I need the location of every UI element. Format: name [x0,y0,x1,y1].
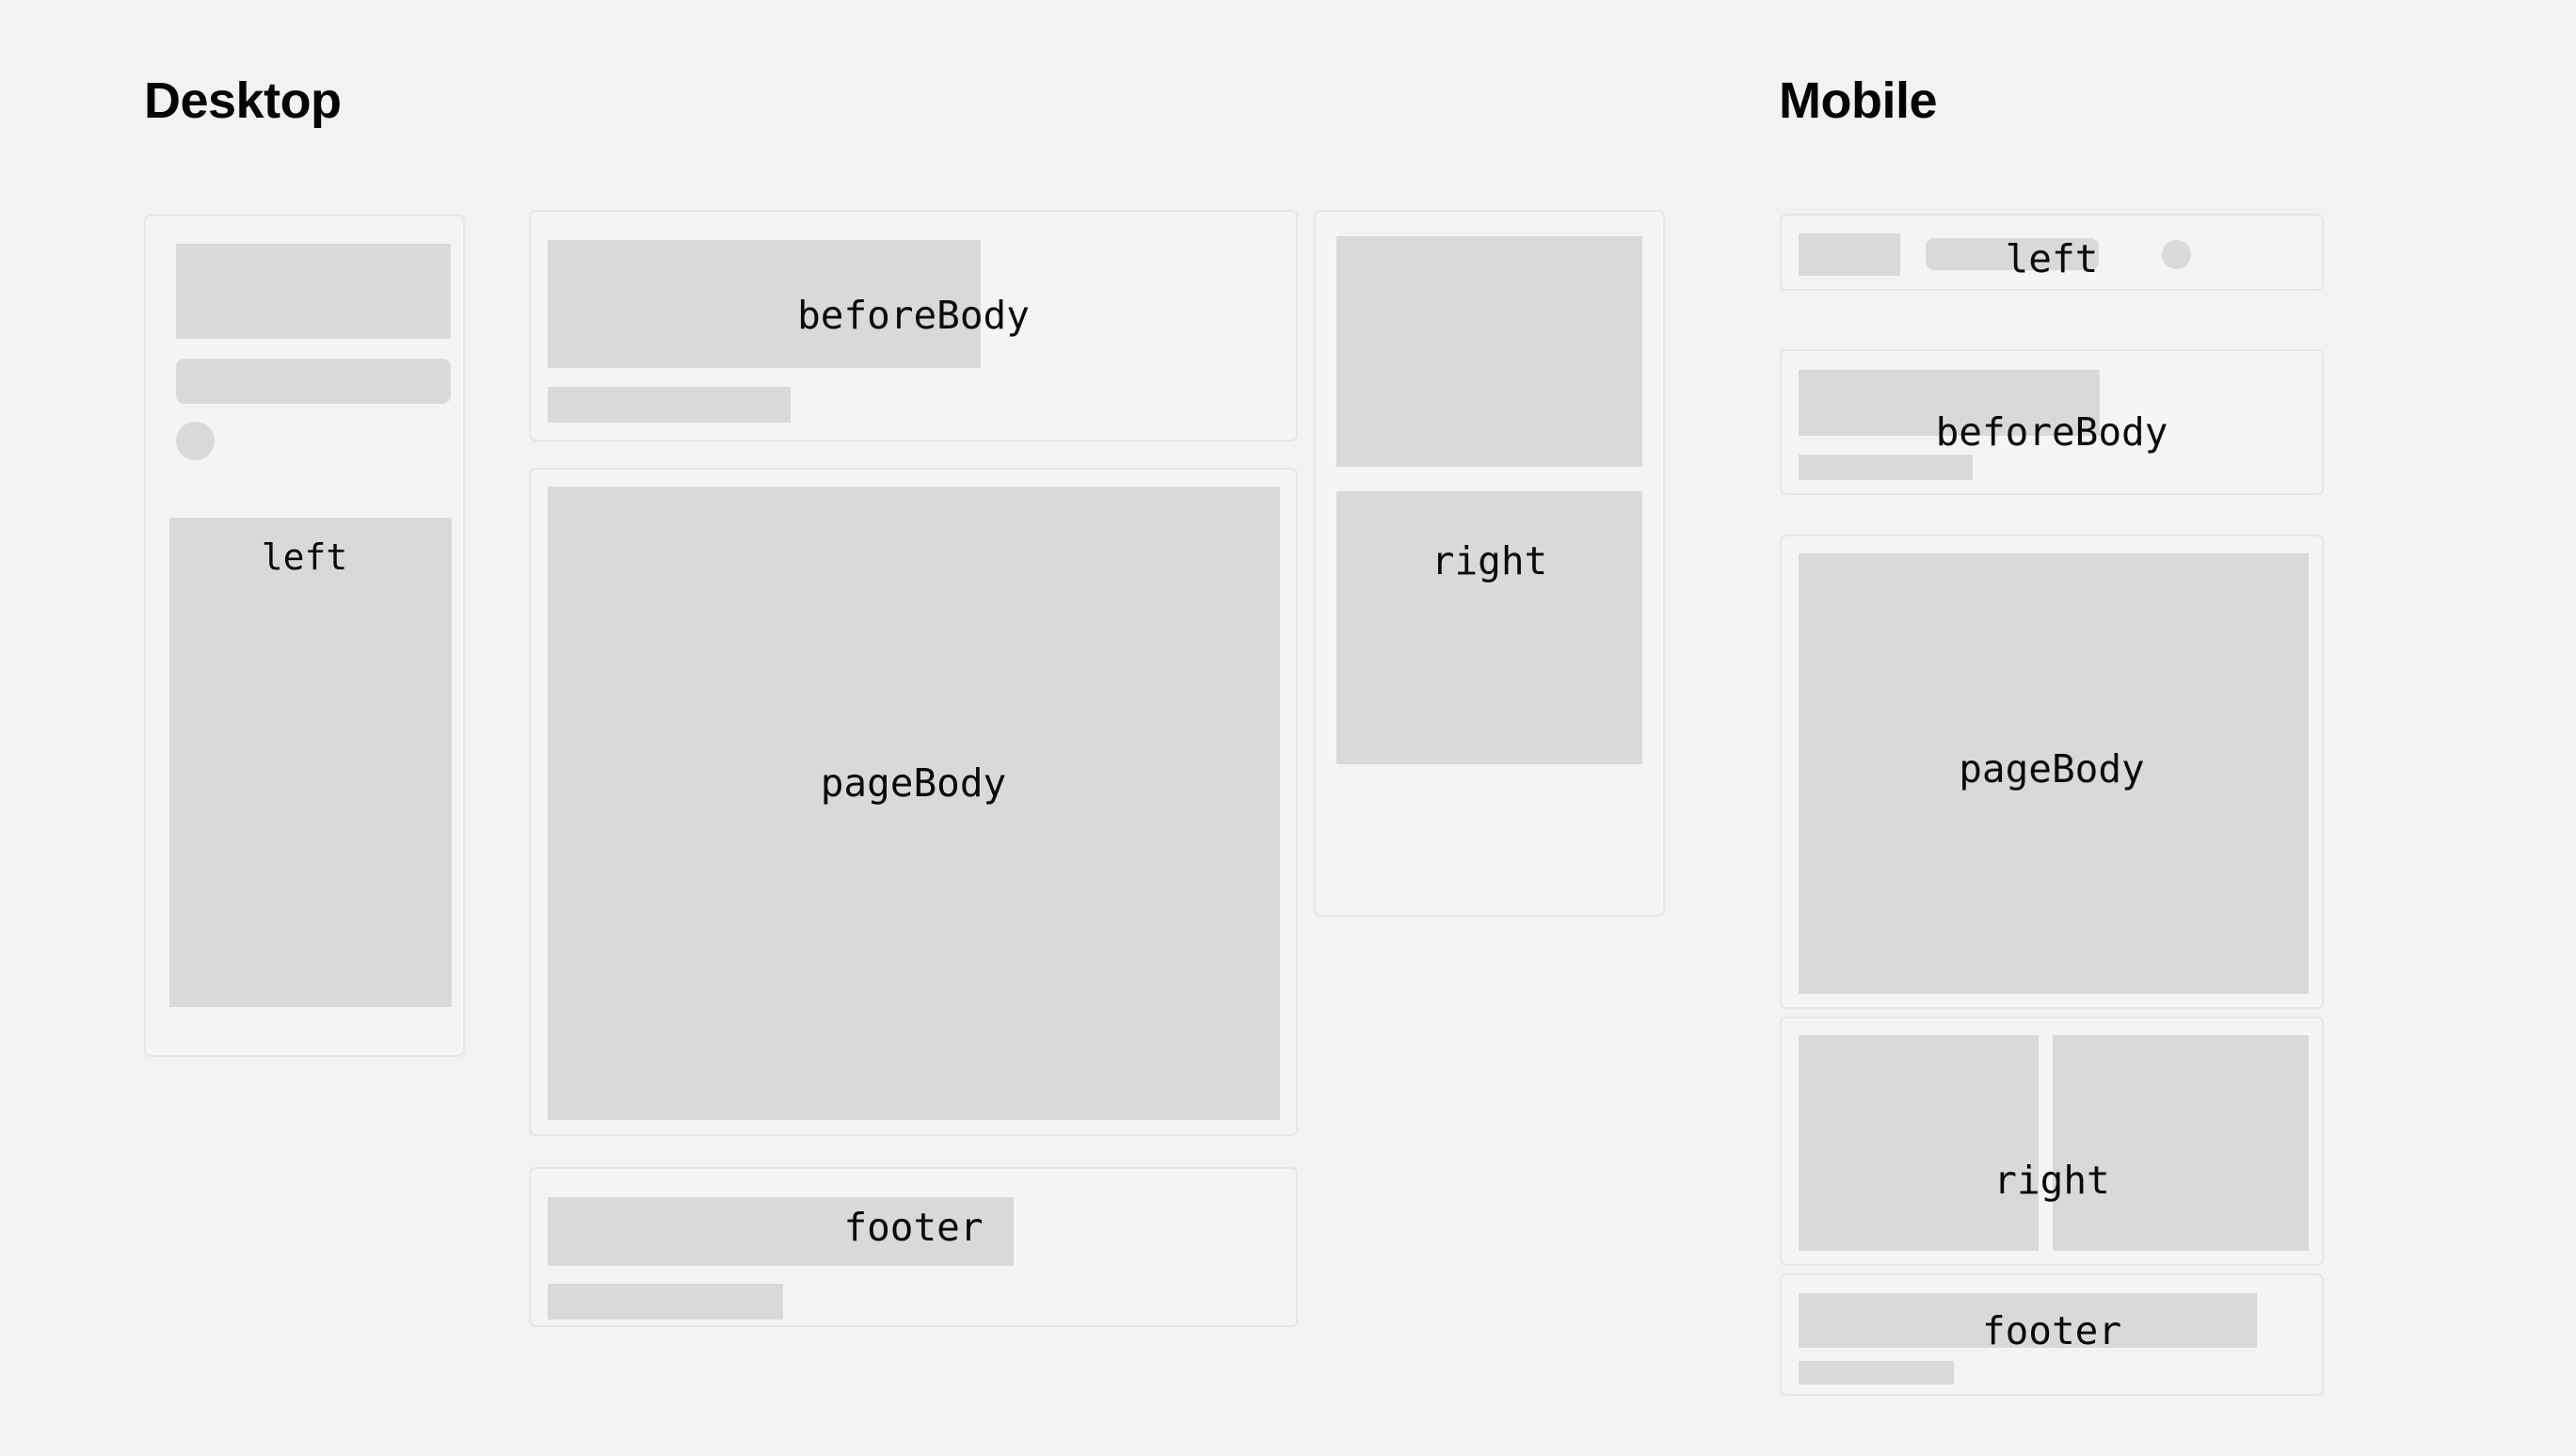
mobile-section-heading: Mobile [1779,75,1937,126]
desktop-beforebody-region-card[interactable] [529,210,1298,441]
mobile-beforebody-primary-block [1799,370,2100,436]
mobile-left-avatar-circle-icon [2162,240,2191,269]
desktop-left-avatar-circle-icon [176,422,215,460]
mobile-right-region-card[interactable] [1780,1016,2324,1266]
desktop-left-header-block [176,244,451,339]
mobile-beforebody-secondary-block [1799,455,1973,480]
mobile-footer-primary-block [1799,1293,2257,1348]
mobile-left-subheader-block [1926,238,2099,270]
desktop-left-region-card[interactable] [144,215,465,1057]
layout-preview-canvas: Desktop Mobile left beforeBody pageBody … [0,0,2576,1456]
mobile-pagebody-main-block [1799,553,2309,994]
desktop-left-panel-block [169,518,452,1007]
desktop-right-lower-block [1336,491,1642,764]
desktop-beforebody-secondary-block [548,387,791,423]
desktop-footer-region-card[interactable] [529,1167,1298,1327]
desktop-footer-secondary-block [548,1284,783,1320]
desktop-beforebody-primary-block [548,240,981,368]
desktop-left-subheader-block [176,359,451,404]
mobile-left-header-block [1799,233,1900,276]
desktop-right-region-card[interactable] [1314,210,1665,917]
mobile-footer-region-card[interactable] [1780,1273,2324,1396]
mobile-left-region-card[interactable] [1780,214,2324,291]
desktop-right-upper-block [1336,236,1642,467]
mobile-right-left-block [1799,1035,2039,1251]
mobile-pagebody-region-card[interactable] [1780,535,2324,1009]
desktop-section-heading: Desktop [144,75,342,126]
desktop-footer-primary-block [548,1197,1014,1266]
mobile-footer-secondary-block [1799,1361,1954,1384]
mobile-right-right-block [2053,1035,2309,1251]
desktop-pagebody-region-card[interactable] [529,468,1298,1136]
mobile-beforebody-region-card[interactable] [1780,349,2324,495]
desktop-pagebody-main-block [548,487,1280,1120]
